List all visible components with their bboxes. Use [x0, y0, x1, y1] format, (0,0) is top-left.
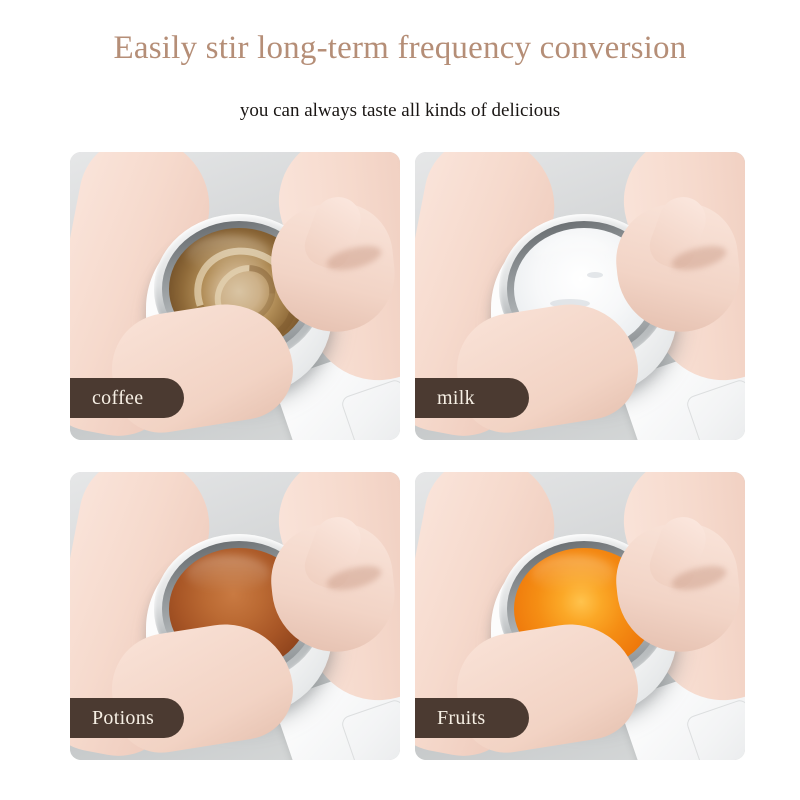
caption-label: milk — [437, 388, 475, 408]
gallery-panel-fruits[interactable]: Fruits — [415, 472, 745, 760]
caption-label: Fruits — [437, 708, 485, 728]
product-gallery-grid: coffee milk — [70, 152, 730, 775]
caption-pill-potions: Potions — [70, 698, 184, 738]
page-subtitle: you can always taste all kinds of delici… — [0, 68, 800, 122]
caption-pill-fruits: Fruits — [415, 698, 529, 738]
page-header: Easily stir long-term frequency conversi… — [0, 0, 800, 122]
caption-pill-milk: milk — [415, 378, 529, 418]
caption-label: Potions — [92, 708, 154, 728]
caption-label: coffee — [92, 388, 143, 408]
page-title: Easily stir long-term frequency conversi… — [0, 30, 800, 68]
caption-pill-coffee: coffee — [70, 378, 184, 418]
foam-fleck — [587, 272, 603, 278]
gallery-panel-coffee[interactable]: coffee — [70, 152, 400, 440]
gallery-panel-potions[interactable]: Potions — [70, 472, 400, 760]
gallery-panel-milk[interactable]: milk — [415, 152, 745, 440]
